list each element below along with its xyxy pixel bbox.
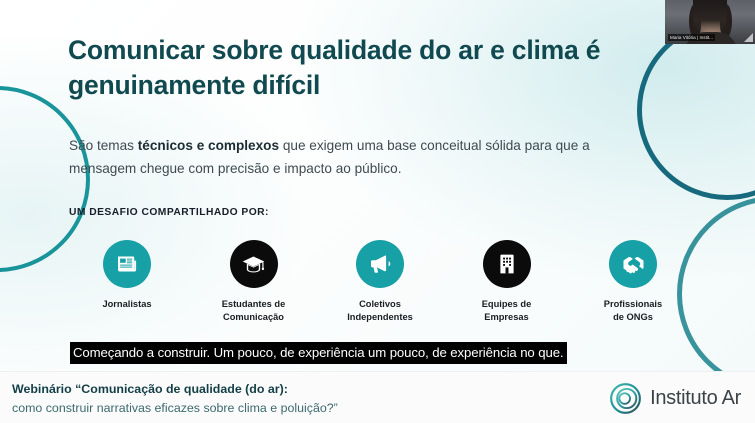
paragraph-emphasis: técnicos e complexos bbox=[138, 138, 279, 153]
slide-headline: Comunicar sobre qualidade do ar e clima … bbox=[68, 33, 628, 103]
megaphone-icon bbox=[368, 252, 392, 276]
webcam-avatar-hair-top bbox=[693, 0, 727, 34]
audience-item-label: Jornalistas bbox=[102, 298, 151, 311]
audience-item-empresas: Equipes de Empresas bbox=[448, 240, 566, 324]
audience-icon-badge bbox=[356, 240, 404, 288]
instituto-ar-logo-text: Instituto Ar bbox=[650, 387, 741, 410]
webinar-title-line-1: Webinário “Comunicação de qualidade (do … bbox=[12, 380, 532, 399]
audience-icon-badge bbox=[483, 240, 531, 288]
newspaper-icon bbox=[115, 252, 139, 276]
webinar-title-block: Webinário “Comunicação de qualidade (do … bbox=[12, 380, 532, 417]
webcam-participant-name: Maria Vitória | Instit... bbox=[668, 34, 715, 41]
handshake-icon bbox=[621, 252, 646, 277]
slide-canvas: Comunicar sobre qualidade do ar e clima … bbox=[0, 0, 755, 371]
slide-kicker-label: UM DESAFIO COMPARTILHADO POR: bbox=[69, 207, 269, 218]
audience-item-label: Equipes de Empresas bbox=[482, 298, 532, 324]
audience-icon-badge bbox=[609, 240, 657, 288]
webcam-thumbnail[interactable]: Maria Vitória | Instit... bbox=[665, 0, 755, 44]
office-building-icon bbox=[495, 252, 519, 276]
audience-icon-badge bbox=[230, 240, 278, 288]
instituto-ar-logo-mark-icon bbox=[609, 382, 642, 415]
paragraph-part-1: São temas bbox=[69, 138, 138, 153]
audience-item-jornalistas: Jornalistas bbox=[68, 240, 186, 311]
live-caption-text: Começando a construir. Um pouco, de expe… bbox=[70, 342, 567, 364]
slide-paragraph: São temas técnicos e complexos que exige… bbox=[69, 134, 634, 181]
audience-item-estudantes: Estudantes de Comunicação bbox=[195, 240, 313, 324]
graduation-cap-icon bbox=[241, 252, 266, 277]
decorative-ring-right bbox=[637, 20, 755, 200]
audience-item-ongs: Profissionais de ONGs bbox=[574, 240, 692, 324]
instituto-ar-logo: Instituto Ar bbox=[609, 382, 741, 415]
audience-row: Jornalistas Estudante bbox=[68, 240, 692, 324]
audience-item-label: Estudantes de Comunicação bbox=[222, 298, 286, 324]
collapse-pip-arrow-icon[interactable] bbox=[744, 33, 753, 42]
slide-footer-bar: Webinário “Comunicação de qualidade (do … bbox=[0, 371, 755, 423]
webinar-title-line-2: como construir narrativas eficazes sobre… bbox=[12, 399, 532, 418]
audience-item-label: Profissionais de ONGs bbox=[604, 298, 662, 324]
audience-item-coletivos: Coletivos Independentes bbox=[321, 240, 439, 324]
audience-icon-badge bbox=[103, 240, 151, 288]
presentation-screen: Comunicar sobre qualidade do ar e clima … bbox=[0, 0, 755, 423]
audience-item-label: Coletivos Independentes bbox=[347, 298, 413, 324]
